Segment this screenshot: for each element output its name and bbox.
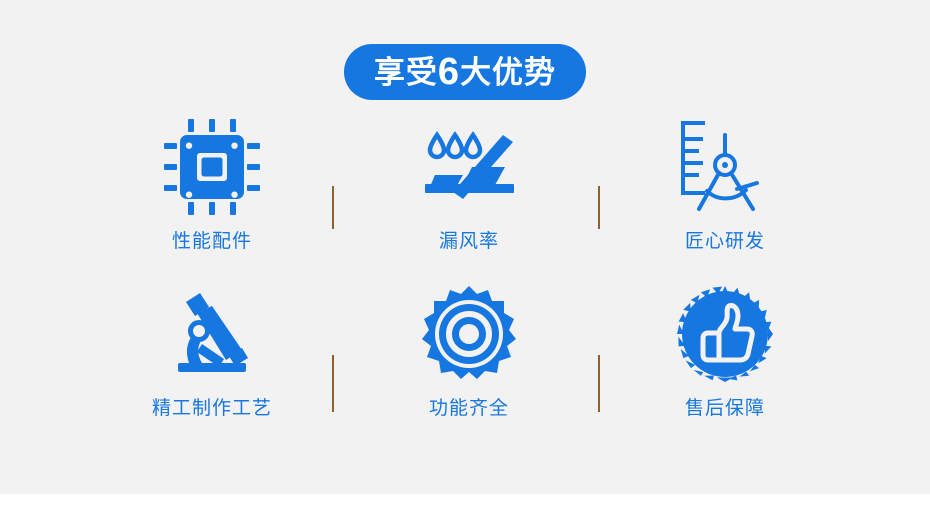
microscope-icon [102, 279, 322, 389]
feature-label: 精工制作工艺 [102, 399, 322, 420]
heading-title: 享受6大优势 [374, 53, 556, 91]
column-divider [598, 355, 600, 412]
ruler-compass-icon [615, 112, 835, 222]
heading-number: 6 [438, 51, 460, 93]
heading-badge: 享受6大优势 [344, 44, 586, 100]
feature-item-air-leakage-rate: 漏风率 [359, 112, 579, 253]
feature-item-performance-parts: 性能配件 [102, 112, 322, 253]
cpu-chip-icon [102, 112, 322, 222]
column-divider [598, 186, 600, 229]
gear-icon [359, 279, 579, 389]
feature-label: 性能配件 [102, 232, 322, 253]
feature-label: 漏风率 [359, 232, 579, 253]
promo-banner: 享受6大优势 [0, 0, 930, 519]
feature-item-full-functionality: 功能齐全 [359, 279, 579, 420]
feature-item-precision-manufacturing: 精工制作工艺 [102, 279, 322, 420]
feature-label: 匠心研发 [615, 232, 835, 253]
feature-item-after-sales-guarantee: 售后保障 [615, 279, 835, 420]
column-divider [332, 355, 334, 412]
heading-prefix: 享受 [374, 55, 438, 90]
feature-grid: 性能配件 [70, 112, 860, 452]
thumbs-up-badge-icon [615, 279, 835, 389]
water-repellent-surface-icon [359, 112, 579, 222]
heading-suffix: 大优势 [460, 55, 556, 90]
feature-item-craftsmanship-rnd: 匠心研发 [615, 112, 835, 253]
feature-label: 功能齐全 [359, 399, 579, 420]
feature-label: 售后保障 [615, 399, 835, 420]
column-divider [332, 186, 334, 229]
